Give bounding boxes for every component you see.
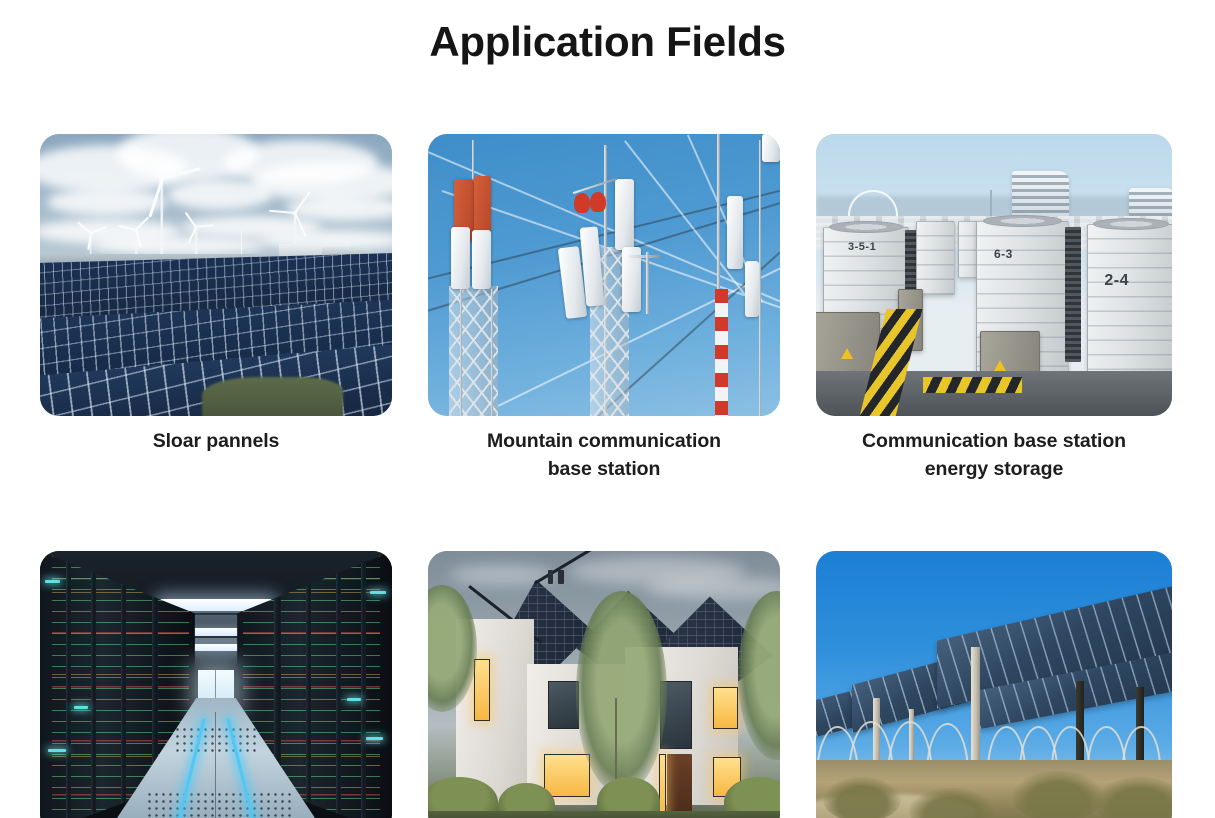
hazard-stripe [923, 377, 1023, 394]
tower-mast-striped [715, 289, 728, 416]
vent-grille [1065, 227, 1081, 362]
card-solar-panels[interactable]: Sloar pannels [40, 134, 392, 483]
antenna-panel [762, 134, 780, 162]
aviation-light [590, 192, 606, 212]
dry-scrub [823, 777, 901, 818]
page-title: Application Fields [0, 18, 1215, 66]
application-fields-grid: Sloar pannels [40, 134, 1172, 818]
telecom-towers-image[interactable] [428, 134, 780, 416]
card-caption: Communication base station energy storag… [816, 416, 1172, 483]
tower-mast [491, 289, 493, 416]
tower-mast [460, 289, 462, 416]
led-accent-strip [45, 580, 60, 583]
rooftop-hvac-energy-storage-units-image[interactable]: 3-5-1 6-3 [816, 134, 1172, 416]
caption-line-1: Mountain communication [428, 428, 780, 456]
warning-triangle-icon [994, 360, 1006, 371]
window [548, 681, 580, 729]
dry-scrub [1012, 771, 1105, 818]
caption-line-1: Communication base station [816, 428, 1172, 456]
grass-patch [202, 377, 343, 416]
card-caption: Mountain communication base station [428, 416, 780, 483]
caption-line-2: base station [428, 456, 780, 484]
antenna-panel [474, 176, 492, 232]
card-home-energy-storage[interactable]: Home energy storage [428, 551, 780, 818]
unit-label: 6-3 [994, 247, 1013, 261]
lawn [428, 811, 780, 818]
led-accent-strip [48, 749, 67, 752]
antenna-panel [451, 227, 470, 289]
row-spacer [428, 483, 780, 551]
warning-triangle-icon [841, 348, 853, 359]
data-center-server-aisle-image[interactable] [40, 551, 392, 818]
antenna-panel [472, 230, 491, 289]
tower-mast [759, 140, 761, 416]
card-industrial-energy-storage[interactable]: Industrial energy storage [816, 551, 1172, 818]
card-caption: Sloar pannels [40, 416, 392, 456]
aviation-light [574, 193, 590, 213]
tower-mast [717, 134, 720, 303]
card-communication-base-station-energy-storage[interactable]: 3-5-1 6-3 [816, 134, 1172, 483]
lit-window [713, 687, 738, 729]
card-mountain-communication-base-station[interactable]: Mountain communication base station [428, 134, 780, 483]
application-fields-page: Application Fields [0, 18, 1215, 818]
card-backup-power[interactable]: Backup power [40, 551, 392, 818]
solar-farm-with-wind-turbines-image[interactable] [40, 134, 392, 416]
row-spacer [40, 483, 392, 551]
hvac-unit [916, 221, 955, 294]
front-door [667, 754, 692, 818]
lit-window [544, 754, 590, 796]
industrial-solar-array-field-image[interactable] [816, 551, 1172, 818]
led-accent-strip [347, 698, 361, 701]
lit-window [474, 659, 490, 721]
tower-crossarm [629, 255, 661, 257]
unit-label: 3-5-1 [848, 241, 876, 253]
chimney [558, 570, 564, 584]
tower-mast [646, 252, 648, 314]
unit-label: 2-4 [1104, 272, 1129, 290]
antenna-panel [727, 196, 743, 269]
antenna-panel [745, 261, 759, 317]
caption-line-2: energy storage [816, 456, 1172, 484]
antenna-panel [615, 179, 634, 250]
chimney [548, 570, 554, 584]
led-accent-strip [370, 591, 385, 594]
row-spacer [816, 483, 1172, 551]
perforated-floor-tile [146, 791, 294, 818]
tree [576, 591, 668, 794]
house-with-solar-roof-at-dusk-image[interactable] [428, 551, 780, 818]
